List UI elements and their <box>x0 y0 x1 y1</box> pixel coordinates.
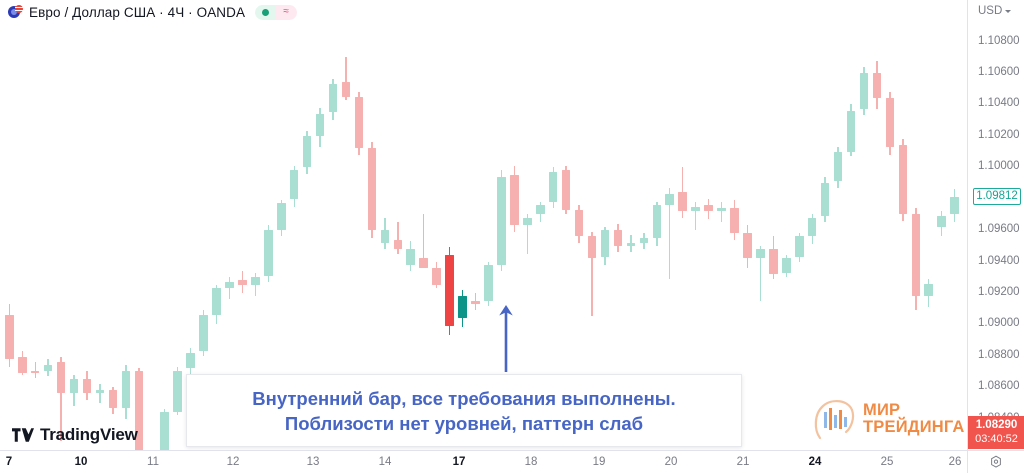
candle-body <box>821 183 830 216</box>
candle-body <box>303 136 312 167</box>
candle-body <box>562 170 571 209</box>
candle-body <box>419 258 428 267</box>
candle-body <box>5 315 14 359</box>
candle <box>277 200 286 236</box>
candle-body <box>199 315 208 351</box>
tradingview-logo[interactable]: TradingView <box>12 425 138 445</box>
current-price-badge[interactable]: 1.0829003:40:52 <box>968 416 1024 449</box>
candle <box>899 139 908 221</box>
candle-wick <box>99 384 100 403</box>
market-open-dot-icon <box>255 5 275 20</box>
current-price-value: 1.08290 <box>968 418 1024 432</box>
candle-body <box>83 379 92 393</box>
time-tick-label: 13 <box>307 456 320 468</box>
candle <box>342 57 351 99</box>
candle-body <box>912 214 921 296</box>
symbol-title[interactable]: Евро / Доллар США · 4Ч · OANDA <box>29 5 245 20</box>
candle <box>937 211 946 236</box>
candle-body <box>96 390 105 393</box>
candle <box>122 365 131 418</box>
candle-body <box>186 353 195 369</box>
candle <box>432 262 441 289</box>
candle <box>31 362 40 378</box>
candle-body <box>510 175 519 225</box>
candle <box>704 199 713 219</box>
candle <box>199 310 208 356</box>
candle-body <box>251 277 260 285</box>
currency-label: USD <box>978 5 1002 17</box>
candle <box>5 304 14 367</box>
candle <box>536 202 545 222</box>
candle-body <box>406 249 415 265</box>
candle <box>70 375 79 406</box>
candle-body <box>782 258 791 272</box>
candle-body <box>627 243 636 246</box>
chart-settings-button[interactable] <box>967 450 1024 473</box>
candle <box>303 131 312 173</box>
candle-body <box>225 282 234 288</box>
candle-body <box>122 371 131 407</box>
candle <box>575 205 584 243</box>
candle <box>445 247 454 335</box>
candle <box>640 233 649 249</box>
candle <box>458 290 467 328</box>
candle-wick <box>35 362 36 378</box>
candle-body <box>109 390 118 407</box>
price-tick-label: 1.08800 <box>978 349 1020 361</box>
candle <box>588 232 597 317</box>
candle-body <box>381 230 390 243</box>
candle-body <box>834 152 843 182</box>
candle-body <box>899 145 908 214</box>
candle <box>653 202 662 246</box>
candle <box>368 142 377 238</box>
candle-body <box>290 170 299 198</box>
annotation-line-2: Поблизости нет уровней, паттерн слаб <box>285 411 643 436</box>
candle-wick <box>229 277 230 299</box>
candle <box>186 348 195 375</box>
candle-body <box>212 288 221 315</box>
candle-body <box>57 362 66 393</box>
candle <box>691 202 700 230</box>
candle-body <box>614 230 623 246</box>
time-tick-label: 14 <box>379 456 392 468</box>
candle-body <box>665 194 674 205</box>
candle-wick <box>397 222 398 253</box>
candle-body <box>445 255 454 326</box>
candle <box>782 255 791 277</box>
price-tick-label: 1.10000 <box>978 160 1020 172</box>
candle-body <box>717 208 726 211</box>
candle <box>329 79 338 120</box>
candle-body <box>730 208 739 233</box>
candle-body <box>523 218 532 226</box>
candle <box>860 67 869 116</box>
candle <box>743 225 752 267</box>
candle-body <box>316 114 325 136</box>
candle-body <box>653 205 662 238</box>
candle-body <box>808 218 817 237</box>
candle <box>601 227 610 265</box>
candle <box>549 167 558 208</box>
candle <box>355 92 364 155</box>
candle-body <box>394 240 403 249</box>
bar-countdown: 03:40:52 <box>968 432 1024 446</box>
candle <box>160 409 169 450</box>
candle-body <box>924 284 933 297</box>
candle <box>381 218 390 249</box>
chart-settings-icon <box>989 455 1003 469</box>
time-tick-label: 17 <box>453 456 466 468</box>
currency-selector[interactable]: USD <box>978 5 1011 17</box>
candle <box>730 200 739 239</box>
candle <box>795 233 804 261</box>
candle-body <box>575 210 584 237</box>
watermark-line-2: ТРЕЙДИНГА <box>863 419 965 436</box>
candle <box>665 188 674 279</box>
candle <box>717 202 726 222</box>
price-tick-label: 1.10600 <box>978 66 1020 78</box>
time-tick-label: 26 <box>949 456 962 468</box>
price-axis[interactable]: USD 1.108001.106001.104001.102001.100001… <box>967 0 1024 450</box>
candle-body <box>704 205 713 211</box>
candle-body <box>743 233 752 258</box>
candle-body <box>769 249 778 274</box>
candle-body <box>70 379 79 393</box>
time-tick-label: 20 <box>665 456 678 468</box>
annotation-line-1: Внутренний бар, все требования выполнены… <box>252 386 675 411</box>
candle <box>316 108 325 147</box>
candle-body <box>756 249 765 258</box>
eurusd-flag-icon <box>8 5 23 20</box>
candle-body <box>264 230 273 276</box>
price-tick-label: 1.09600 <box>978 223 1020 235</box>
candle <box>912 208 921 310</box>
candle <box>471 293 480 310</box>
candle <box>96 384 105 403</box>
candle-body <box>795 236 804 256</box>
candle <box>212 285 221 324</box>
candle-body <box>238 280 247 285</box>
candle <box>18 351 27 375</box>
candle-wick <box>721 202 722 222</box>
time-tick-label: 10 <box>75 456 88 468</box>
candle-body <box>601 230 610 257</box>
candle <box>523 214 532 253</box>
tradingview-label: TradingView <box>40 425 138 445</box>
candle-body <box>471 301 480 304</box>
candle <box>834 147 843 188</box>
candle-body <box>847 111 856 152</box>
time-tick-label: 11 <box>147 456 159 468</box>
candle <box>497 170 506 271</box>
candle <box>419 214 428 267</box>
mir-treydinga-watermark: МИР ТРЕЙДИНГА <box>812 398 965 440</box>
time-axis[interactable]: 710111213141718192021242526 <box>0 450 1024 473</box>
candle <box>924 279 933 307</box>
candle <box>394 222 403 253</box>
candle-body <box>588 236 597 258</box>
candle-body <box>277 203 286 230</box>
candle <box>847 104 856 156</box>
candle <box>808 214 817 244</box>
candle-body <box>536 205 545 214</box>
candle-body <box>18 357 27 373</box>
time-tick-label: 24 <box>809 456 822 468</box>
candle <box>510 166 519 232</box>
delayed-data-icon: ≈ <box>275 5 297 20</box>
status-badges: ≈ <box>255 5 297 20</box>
last-price-label[interactable]: 1.09812 <box>973 188 1021 206</box>
price-tick-label: 1.10400 <box>978 97 1020 109</box>
candle <box>821 177 830 223</box>
candle <box>109 387 118 414</box>
chevron-down-icon <box>1005 10 1011 13</box>
candle <box>225 277 234 299</box>
time-tick-label: 21 <box>737 456 750 468</box>
chart-header: Евро / Доллар США · 4Ч · OANDA ≈ <box>0 0 1024 24</box>
time-tick-label: 12 <box>227 456 240 468</box>
price-tick-label: 1.09200 <box>978 286 1020 298</box>
candle-body <box>860 73 869 109</box>
candle <box>83 371 92 399</box>
candle-body <box>432 268 441 285</box>
candle-body <box>937 216 946 227</box>
candle <box>873 61 882 110</box>
candle-body <box>950 197 959 214</box>
price-tick-label: 1.09400 <box>978 255 1020 267</box>
candle <box>251 273 260 297</box>
tradingview-chart-screenshot: Евро / Доллар США · 4Ч · OANDA ≈ Внутрен… <box>0 0 1024 473</box>
candle <box>238 271 247 293</box>
watermark-line-1: МИР <box>863 402 965 419</box>
candle <box>264 225 273 282</box>
candle-body <box>886 98 895 147</box>
candle <box>562 166 571 215</box>
price-tick-label: 1.08600 <box>978 380 1020 392</box>
candle <box>756 246 765 301</box>
candle-body <box>31 371 40 373</box>
time-tick-label: 18 <box>525 456 538 468</box>
candle <box>290 166 299 207</box>
candle-body <box>173 371 182 412</box>
candle <box>173 367 182 416</box>
tradingview-logo-icon <box>12 428 34 442</box>
price-tick-label: 1.09000 <box>978 317 1020 329</box>
status-badge[interactable]: ≈ <box>255 5 297 20</box>
candle <box>406 241 415 271</box>
candle-body <box>368 148 377 230</box>
candle <box>678 167 687 217</box>
candle-body <box>497 177 506 265</box>
candle <box>484 262 493 306</box>
candle-body <box>342 82 351 96</box>
trader-head-candles-icon <box>812 398 856 440</box>
candle-body <box>691 207 700 212</box>
up-arrow-icon <box>495 302 517 374</box>
candle-body <box>458 296 467 318</box>
time-tick-label: 7 <box>6 456 12 468</box>
candle-body <box>160 412 169 450</box>
candle-body <box>678 192 687 211</box>
candle-body <box>873 73 882 98</box>
candle <box>950 189 959 222</box>
time-tick-label: 19 <box>593 456 606 468</box>
candle-body <box>44 365 53 371</box>
annotation-callout: Внутренний бар, все требования выполнены… <box>186 374 742 447</box>
candle-body <box>484 265 493 301</box>
candle-body <box>329 84 338 112</box>
candle <box>886 92 895 155</box>
candle <box>627 235 636 252</box>
candle-body <box>355 97 364 149</box>
time-tick-label: 25 <box>881 456 894 468</box>
price-tick-label: 1.10200 <box>978 129 1020 141</box>
candle-body <box>640 238 649 243</box>
candle <box>44 359 53 376</box>
price-tick-label: 1.10800 <box>978 35 1020 47</box>
candle <box>769 236 778 278</box>
candle <box>614 224 623 252</box>
candle-body <box>549 172 558 202</box>
